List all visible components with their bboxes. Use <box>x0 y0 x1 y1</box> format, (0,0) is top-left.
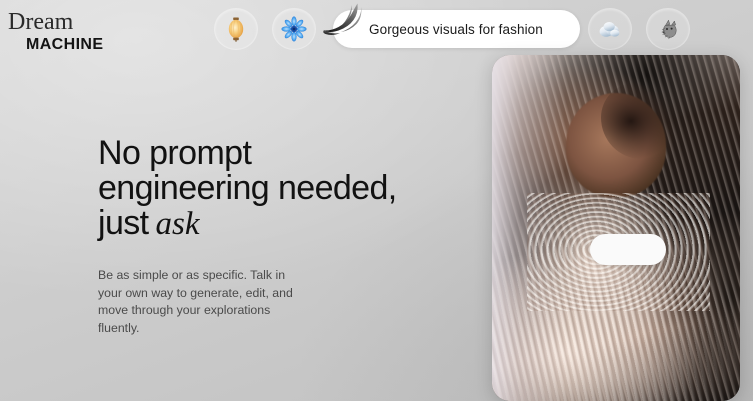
brand-logo-line2: MACHINE <box>26 37 103 53</box>
app-screen: Dream MACHINE <box>0 0 753 401</box>
headline-line-3: just <box>98 204 149 242</box>
headline-line-1: No prompt <box>98 134 251 172</box>
lantern-icon <box>225 16 247 42</box>
cloud-icon <box>597 18 623 40</box>
bird-wing-icon <box>318 0 374 46</box>
active-prompt-label: Gorgeous visuals for fashion <box>369 22 543 37</box>
wolf-head-icon <box>655 16 681 42</box>
hero-subcopy: Be as simple or as specific. Talk in you… <box>98 267 308 338</box>
flower-icon <box>281 16 307 42</box>
chip-flower[interactable] <box>272 8 316 50</box>
media-overlay-pill[interactable] <box>590 234 666 265</box>
headline-emphasis-ask: ask <box>149 206 200 242</box>
hero-text-block: No prompt engineering needed, justask Be… <box>98 136 398 338</box>
chip-cloud[interactable] <box>588 8 632 50</box>
chip-wolf[interactable] <box>646 8 690 50</box>
brand-logo-line1: Dream <box>8 10 103 34</box>
page-title: No prompt engineering needed, justask <box>98 136 398 241</box>
chip-lantern[interactable] <box>214 8 258 50</box>
hero-media-card[interactable] <box>492 55 740 401</box>
headline-line-2: engineering needed, <box>98 169 397 207</box>
brand-logo[interactable]: Dream MACHINE <box>8 10 103 53</box>
